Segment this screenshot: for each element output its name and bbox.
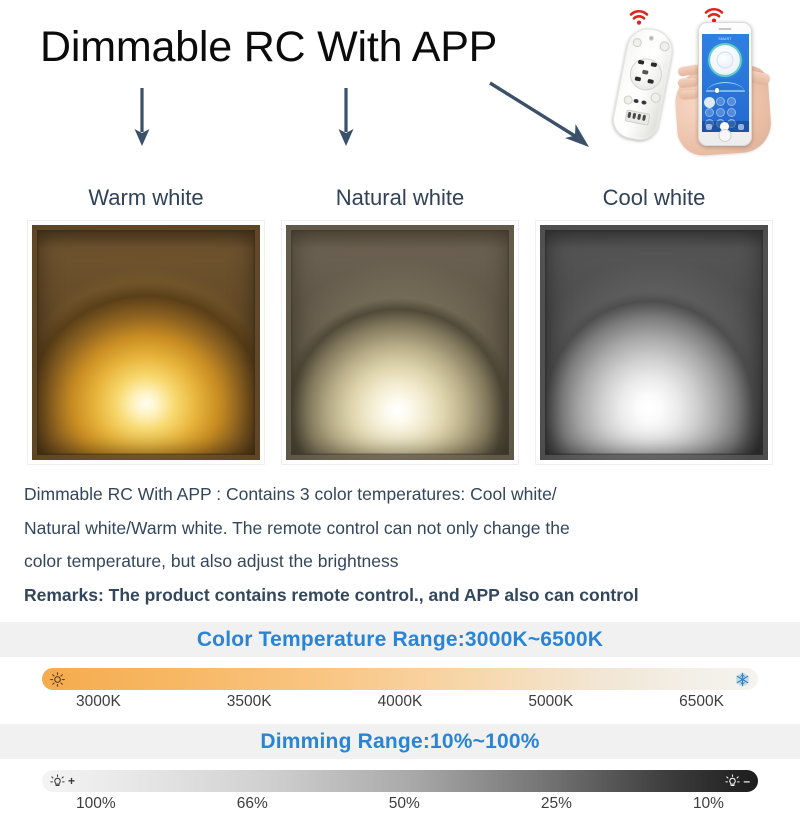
remote-key	[642, 70, 649, 75]
arrow-diagonal-icon	[487, 80, 597, 152]
color-temperature-ticks: 3000K 3500K 4000K 5000K 6500K	[42, 690, 758, 711]
brightness-minus-sign: –	[743, 775, 750, 787]
tick-66-percent: 66%	[237, 795, 268, 813]
app-slider-knob[interactable]	[715, 88, 720, 93]
app-grid-cell[interactable]	[705, 108, 714, 117]
app-dial-inner	[717, 52, 734, 69]
tick-50-percent: 50%	[389, 795, 420, 813]
color-temperature-bar[interactable]	[42, 668, 758, 690]
bulb-bright-icon: +	[50, 774, 75, 789]
warm-white-panel	[28, 221, 264, 464]
panel-glow	[32, 225, 260, 460]
dimming-range-ticks: 100% 66% 50% 25% 10%	[42, 792, 758, 813]
tick-10-percent: 10%	[693, 795, 724, 813]
hero-section: Dimmable RC With APP	[0, 0, 800, 185]
app-grid-cell[interactable]	[716, 108, 725, 117]
smartphone-app-device[interactable]: SMART	[690, 22, 754, 148]
color-temperature-band: Color Temperature Range:3000K~6500K	[0, 622, 800, 657]
tick-100-percent: 100%	[76, 795, 116, 813]
dimming-range-scale: + – 100% 66% 50%	[0, 759, 800, 813]
color-label-row: Warm white Natural white Cool white	[0, 185, 800, 221]
remote-control-device[interactable]	[610, 25, 677, 144]
label-cool-white: Cool white	[536, 185, 772, 211]
remote-key	[638, 60, 645, 65]
color-temperature-scale: 3000K 3500K 4000K 5000K 6500K	[0, 657, 800, 711]
remote-key	[635, 76, 642, 81]
panel-glow	[286, 225, 514, 460]
natural-white-image	[286, 225, 514, 460]
phone-speaker	[719, 28, 732, 30]
warm-white-image	[32, 225, 260, 460]
label-natural-white: Natural white	[282, 185, 518, 211]
description-line-1: Dimmable RC With APP : Contains 3 color …	[24, 481, 776, 508]
brightness-plus-sign: +	[68, 775, 75, 787]
tick-3500k: 3500K	[227, 693, 272, 711]
description-line-3: color temperature, but also adjust the b…	[24, 548, 776, 575]
cool-white-panel	[536, 221, 772, 464]
arrow-down-icon	[332, 88, 360, 148]
finger	[679, 90, 698, 100]
app-brightness-dial[interactable]	[710, 45, 740, 75]
tick-5000k: 5000K	[528, 693, 573, 711]
device-photo-group: SMART	[602, 2, 798, 152]
app-tab[interactable]	[706, 124, 712, 130]
product-infographic: Dimmable RC With APP	[0, 0, 800, 800]
tick-3000k: 3000K	[76, 693, 121, 711]
remote-key	[651, 62, 658, 67]
phone-body: SMART	[698, 22, 752, 146]
arrow-down-icon	[128, 88, 156, 148]
description-line-2: Natural white/Warm white. The remote con…	[24, 515, 776, 542]
tick-6500k: 6500K	[679, 693, 724, 711]
light-sample-panels	[0, 221, 800, 469]
dimming-range-bar[interactable]: + –	[42, 770, 758, 792]
app-grid-cell[interactable]	[727, 97, 736, 106]
cool-white-image	[540, 225, 768, 460]
sun-icon	[50, 672, 65, 687]
app-screen[interactable]: SMART	[702, 34, 749, 132]
app-grid-cell[interactable]	[727, 108, 736, 117]
page-title: Dimmable RC With APP	[40, 26, 497, 69]
snowflake-icon	[735, 672, 750, 687]
bulb-dim-icon: –	[725, 774, 750, 789]
remote-key	[647, 79, 654, 84]
panel-glow	[540, 225, 768, 460]
tick-4000k: 4000K	[378, 693, 423, 711]
app-screen-title: SMART	[702, 37, 749, 41]
natural-white-panel	[282, 221, 518, 464]
app-slider-track[interactable]	[706, 90, 745, 92]
phone-home-button[interactable]	[719, 129, 732, 142]
dimming-range-band: Dimming Range:10%~100%	[0, 724, 800, 759]
wifi-signal-icon	[628, 8, 650, 26]
color-temperature-title: Color Temperature Range:3000K~6500K	[197, 628, 603, 652]
description-block: Dimmable RC With APP : Contains 3 color …	[0, 469, 800, 608]
dimming-range-title: Dimming Range:10%~100%	[260, 730, 539, 754]
label-warm-white: Warm white	[28, 185, 264, 211]
tick-25-percent: 25%	[541, 795, 572, 813]
app-grid-cell[interactable]	[716, 97, 725, 106]
remarks-line: Remarks: The product contains remote con…	[24, 582, 776, 609]
app-tab[interactable]	[738, 124, 744, 130]
